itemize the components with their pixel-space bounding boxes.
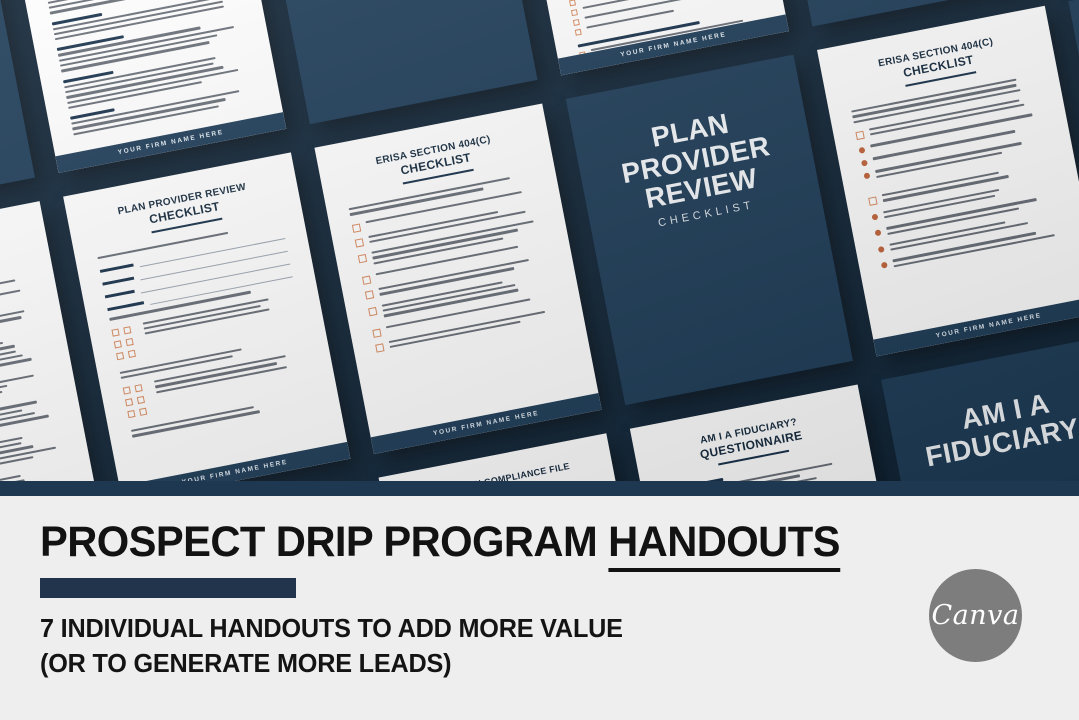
bottom-banner: PROSPECT DRIP PROGRAM HANDOUTS 7 INDIVID… [0, 496, 1079, 720]
document-content-page: ERISA SECTION 404(C)CHECKLISTYOUR FIRM N… [817, 6, 1079, 357]
document-cover-page: SAMPLECOMMITTEE CHARTER [0, 0, 35, 222]
canva-logo: Canva [929, 569, 1022, 662]
canva-logo-text: Canva [932, 600, 1020, 631]
title-main: PROSPECT DRIP PROGRAM [40, 518, 608, 566]
document-content-page: ERISA SECTION 404(C)CHECKLISTYOUR FIRM N… [314, 103, 601, 454]
collage-rotated-group: SAMPLECOMMITTEE CHARTERSAMPLECOMMITTEE C… [0, 0, 1079, 496]
subtitle-line-1: 7 INDIVIDUAL HANDOUTS TO ADD MORE VALUE [40, 611, 623, 646]
subtitle-line-2: (OR TO GENERATE MORE LEADS) [40, 646, 623, 681]
page-title: PROSPECT DRIP PROGRAM HANDOUTS [40, 518, 840, 567]
navy-divider-strip [0, 481, 1079, 496]
document-content-page: SAMPLECOMMITTEE CHARTERYOUR FIRM NAME HE… [0, 0, 286, 173]
document-content-page: PLAN PROVIDER REVIEWCHECKLISTYOUR FIRM N… [63, 152, 350, 496]
page-subtitle: 7 INDIVIDUAL HANDOUTS TO ADD MORE VALUE … [40, 611, 623, 681]
document-cover-page: PLAN PROVIDER REVIEWCHECKLIST [566, 55, 853, 406]
yes-no-checkbox-group [123, 351, 314, 422]
title-underlined: HANDOUTS [608, 518, 840, 572]
document-cover-page: ERISA SECTION 404(c)CHECKLIST [250, 0, 537, 124]
title-accent-bar [40, 578, 296, 598]
document-cover-page: AM I A FIDUCIARY? [881, 336, 1079, 496]
document-collage: SAMPLECOMMITTEE CHARTERSAMPLECOMMITTEE C… [0, 0, 1079, 496]
document-content-page: AM I A FIDUCIARY?QUESTIONNAIREYOUR FIRM … [630, 384, 917, 496]
cover-title: AM I A FIDUCIARY? [910, 379, 1079, 473]
